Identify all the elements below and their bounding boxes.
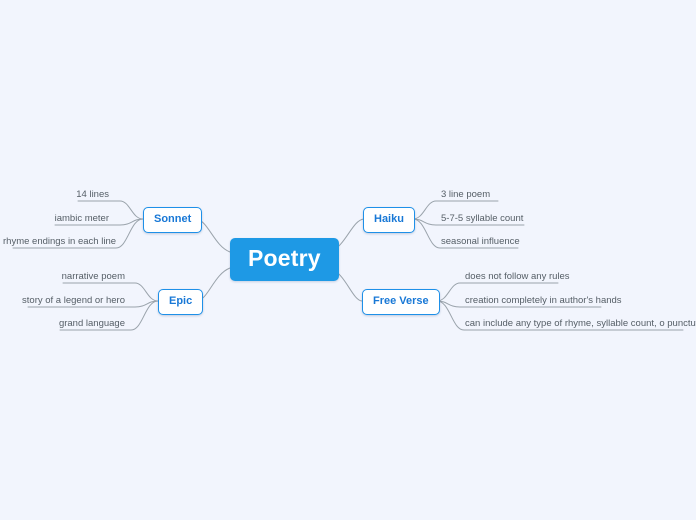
leaf-node-label: iambic meter [55,213,109,224]
leaf-node-epic-1[interactable]: story of a legend or hero [0,296,128,310]
leaf-node-label: does not follow any rules [465,271,570,282]
leaf-node-label: 14 lines [76,189,109,200]
leaf-node-haiku-2[interactable]: seasonal influence [438,237,688,251]
root-node-label: Poetry [248,245,321,271]
leaf-node-label: can include any type of rhyme, syllable … [465,318,696,329]
connector-layer [0,0,696,520]
leaf-node-sonnet-1[interactable]: iambic meter [0,214,112,228]
branch-node-label: Sonnet [154,213,191,225]
leaf-node-label: 3 line poem [441,189,490,200]
branch-node-haiku[interactable]: Haiku [363,207,415,233]
leaf-node-label: 5-7-5 syllable count [441,213,523,224]
leaf-node-label: rhyme endings in each line [3,236,116,247]
leaf-node-free-verse-1b[interactable]: creation completely in author's hands [462,296,696,310]
leaf-node-sonnet-0[interactable]: 14 lines [0,190,112,204]
leaf-node-epic-2[interactable]: grand language [0,319,128,333]
leaf-node-haiku-1[interactable]: 5-7-5 syllable count [438,214,688,228]
root-node[interactable]: Poetry [230,238,339,281]
leaf-node-label: seasonal influence [441,236,520,247]
leaf-node-label: narrative poem [62,271,125,282]
branch-node-label: Free Verse [373,295,429,307]
branch-node-free-verse[interactable]: Free Verse [362,289,440,315]
branch-node-label: Haiku [374,213,404,225]
leaf-node-sonnet-2[interactable]: rhyme endings in each line [0,237,112,251]
leaf-node-haiku-0[interactable]: 3 line poem [438,190,688,204]
leaf-node-label: story of a legend or hero [22,295,125,306]
leaf-node-epic-0[interactable]: narrative poem [0,272,128,286]
leaf-node-label: grand language [59,318,125,329]
leaf-node-free-verse-2[interactable]: can include any type of rhyme, syllable … [462,319,696,333]
leaf-node-label: creation completely in author's hands [465,295,622,306]
branch-node-sonnet[interactable]: Sonnet [143,207,202,233]
leaf-node-free-verse-0[interactable]: does not follow any rules [462,272,696,286]
branch-node-label: Epic [169,295,192,307]
mind-map-canvas: Poetry Sonnet 14 lines iambic meter rhym… [0,0,696,520]
branch-node-epic[interactable]: Epic [158,289,203,315]
